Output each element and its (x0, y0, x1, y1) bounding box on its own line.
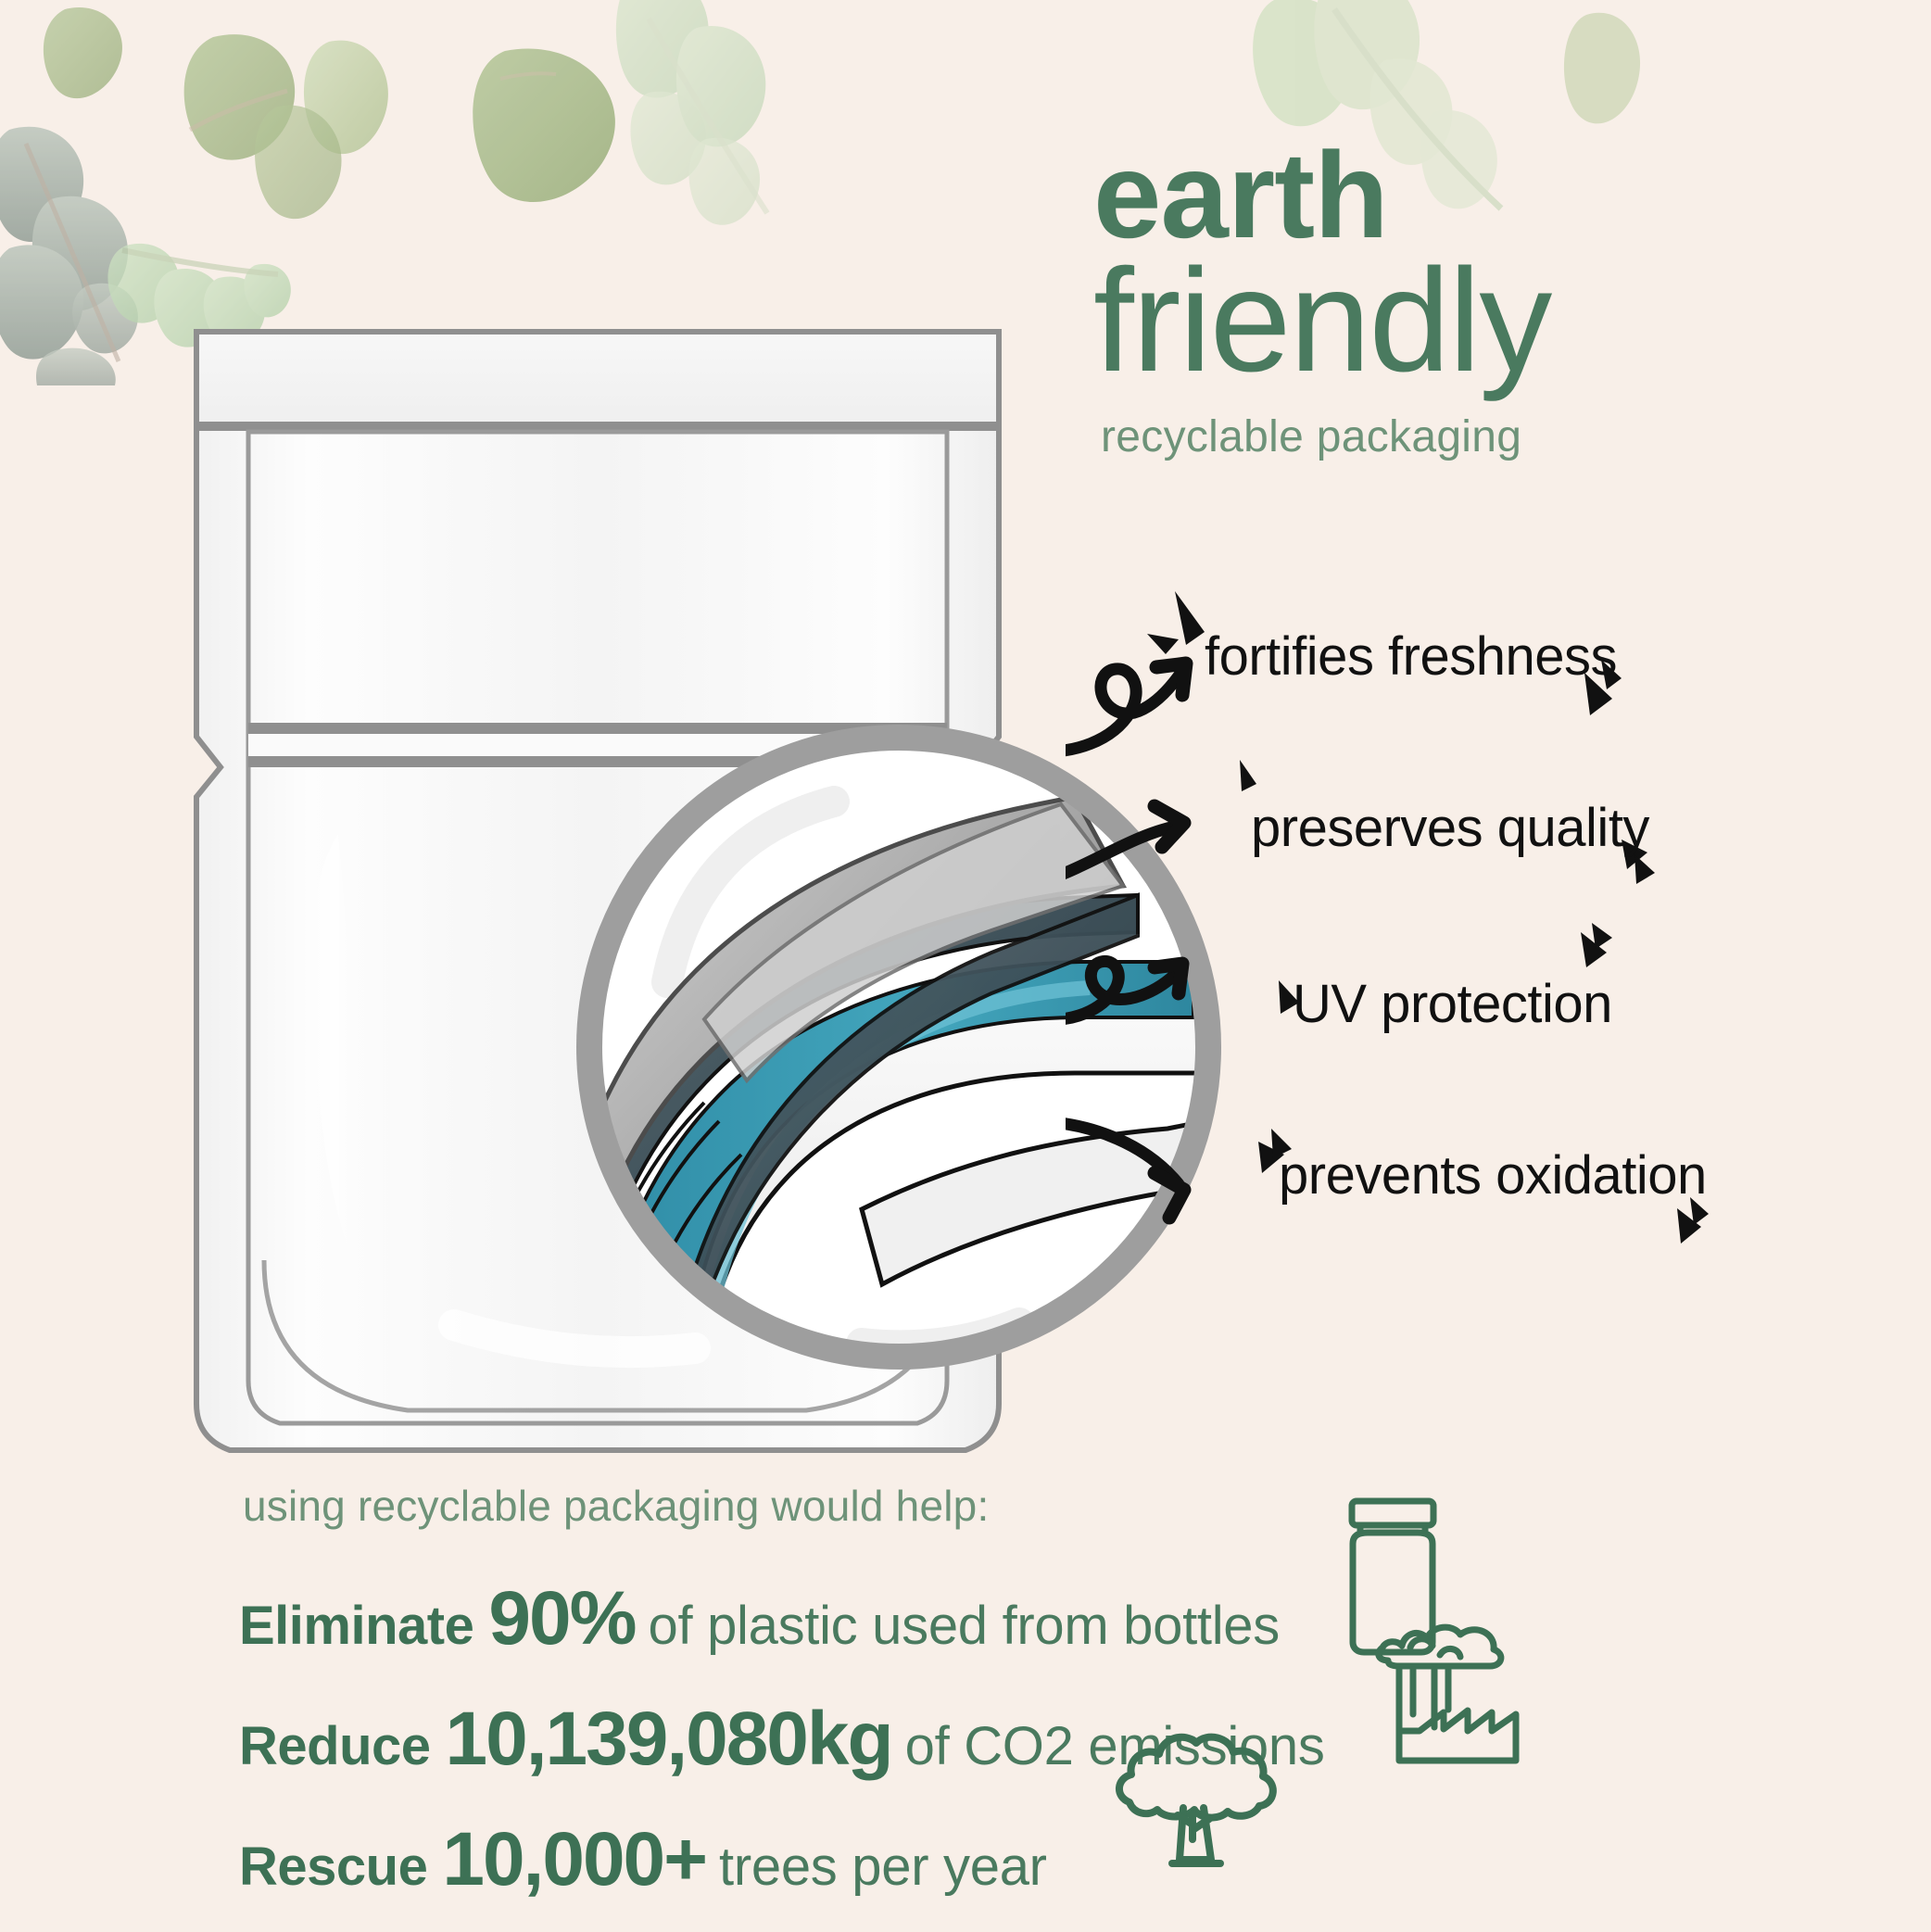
page-title-line-2: friendly (1093, 251, 1927, 390)
stat-verb: Eliminate (239, 1595, 473, 1657)
earth-friendly-packaging-infographic: earth friendly recyclable packaging (0, 0, 1931, 1932)
tree-icon (1107, 1728, 1283, 1876)
stat-row-rescue: Rescue 10,000+ trees per year (239, 1816, 1629, 1903)
headline-block: earth friendly recyclable packaging (1093, 139, 1927, 462)
page-subtitle: recyclable packaging (1101, 411, 1927, 462)
stat-tail: trees per year (719, 1836, 1047, 1898)
feature-label-uv-protection: UV protection (1293, 973, 1612, 1035)
feature-label-prevents-oxidation: prevents oxidation (1279, 1144, 1707, 1206)
stat-verb: Reduce (239, 1715, 431, 1777)
stat-number: 10,000+ (442, 1816, 706, 1903)
stat-number: 10,139,080kg (446, 1696, 892, 1783)
stat-tail: of plastic used from bottles (648, 1595, 1279, 1657)
factory-icon (1371, 1612, 1529, 1765)
stat-verb: Rescue (239, 1836, 427, 1898)
feature-callouts: fortifies freshness preserves quality UV… (1066, 575, 1927, 1279)
stat-number: 90% (488, 1575, 635, 1662)
feature-label-preserves-quality: preserves quality (1251, 797, 1649, 859)
page-title-line-1: earth (1093, 139, 1927, 251)
feature-label-fortifies-freshness: fortifies freshness (1205, 625, 1617, 688)
